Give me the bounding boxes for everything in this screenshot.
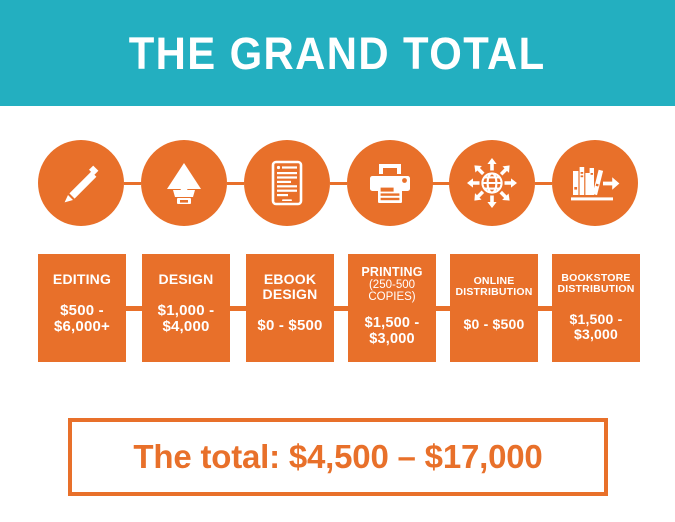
cost-box-design[interactable]: DESIGN $1,000 - $4,000 bbox=[142, 254, 230, 362]
cost-box-label: PRINTING bbox=[361, 266, 422, 279]
step-icon-circle-printing[interactable] bbox=[347, 140, 433, 226]
pen-nib-icon bbox=[160, 159, 208, 207]
step-icon-circle-online[interactable] bbox=[449, 140, 535, 226]
printer-icon bbox=[366, 159, 414, 207]
page-title: THE GRAND TOTAL bbox=[129, 31, 546, 76]
cost-box-label: DESIGN bbox=[159, 272, 214, 287]
box-connector-3 bbox=[334, 306, 348, 311]
cost-box-bookstore-distribution[interactable]: BOOKSTORE DISTRIBUTION $1,500 - $3,000 bbox=[552, 254, 640, 362]
cost-box-online-distribution[interactable]: ONLINE DISTRIBUTION $0 - $500 bbox=[450, 254, 538, 362]
box-connector-4 bbox=[436, 306, 450, 311]
step-icon-circle-ebook[interactable] bbox=[244, 140, 330, 226]
grand-total-box: The total: $4,500 – $17,000 bbox=[68, 418, 608, 496]
box-connector-1 bbox=[126, 306, 142, 311]
cost-box-value: $0 - $500 bbox=[464, 317, 525, 332]
header-banner: THE GRAND TOTAL bbox=[0, 0, 675, 106]
cost-box-value: $500 - $6,000+ bbox=[41, 303, 123, 335]
cost-box-label: EDITING bbox=[53, 272, 111, 287]
icon-connector-1 bbox=[124, 182, 141, 185]
cost-box-value: $0 - $500 bbox=[257, 318, 322, 334]
step-icon-circle-editing[interactable] bbox=[38, 140, 124, 226]
cost-box-label: EBOOK DESIGN bbox=[249, 272, 331, 301]
cost-box-label: BOOKSTORE DISTRIBUTION bbox=[555, 273, 637, 295]
box-connector-5 bbox=[538, 306, 552, 311]
grand-total-text: The total: $4,500 – $17,000 bbox=[133, 438, 542, 476]
step-icon-circle-bookstore[interactable] bbox=[552, 140, 638, 226]
cost-box-ebook-design[interactable]: EBOOK DESIGN $0 - $500 bbox=[246, 254, 334, 362]
box-connector-2 bbox=[230, 306, 246, 311]
process-icon-row bbox=[38, 140, 638, 226]
books-shelf-arrow-icon bbox=[569, 159, 621, 207]
cost-box-value: $1,500 - $3,000 bbox=[555, 312, 637, 342]
cost-box-label: ONLINE DISTRIBUTION bbox=[453, 276, 535, 298]
icon-connector-3 bbox=[330, 182, 347, 185]
ebook-reader-icon bbox=[263, 159, 311, 207]
cost-box-printing[interactable]: PRINTING (250-500 COPIES) $1,500 - $3,00… bbox=[348, 254, 436, 362]
icon-connector-5 bbox=[535, 182, 552, 185]
pencil-icon bbox=[57, 159, 105, 207]
globe-arrows-icon bbox=[466, 157, 518, 209]
cost-box-value: $1,500 - $3,000 bbox=[351, 316, 433, 347]
cost-box-value: $1,000 - $4,000 bbox=[145, 303, 227, 335]
icon-connector-4 bbox=[432, 182, 450, 185]
cost-box-sublabel: (250-500 COPIES) bbox=[351, 279, 433, 303]
icon-connector-2 bbox=[227, 182, 244, 185]
cost-boxes-row: EDITING $500 - $6,000+ DESIGN $1,000 - $… bbox=[38, 254, 638, 364]
step-icon-circle-design[interactable] bbox=[141, 140, 227, 226]
cost-box-editing[interactable]: EDITING $500 - $6,000+ bbox=[38, 254, 126, 362]
